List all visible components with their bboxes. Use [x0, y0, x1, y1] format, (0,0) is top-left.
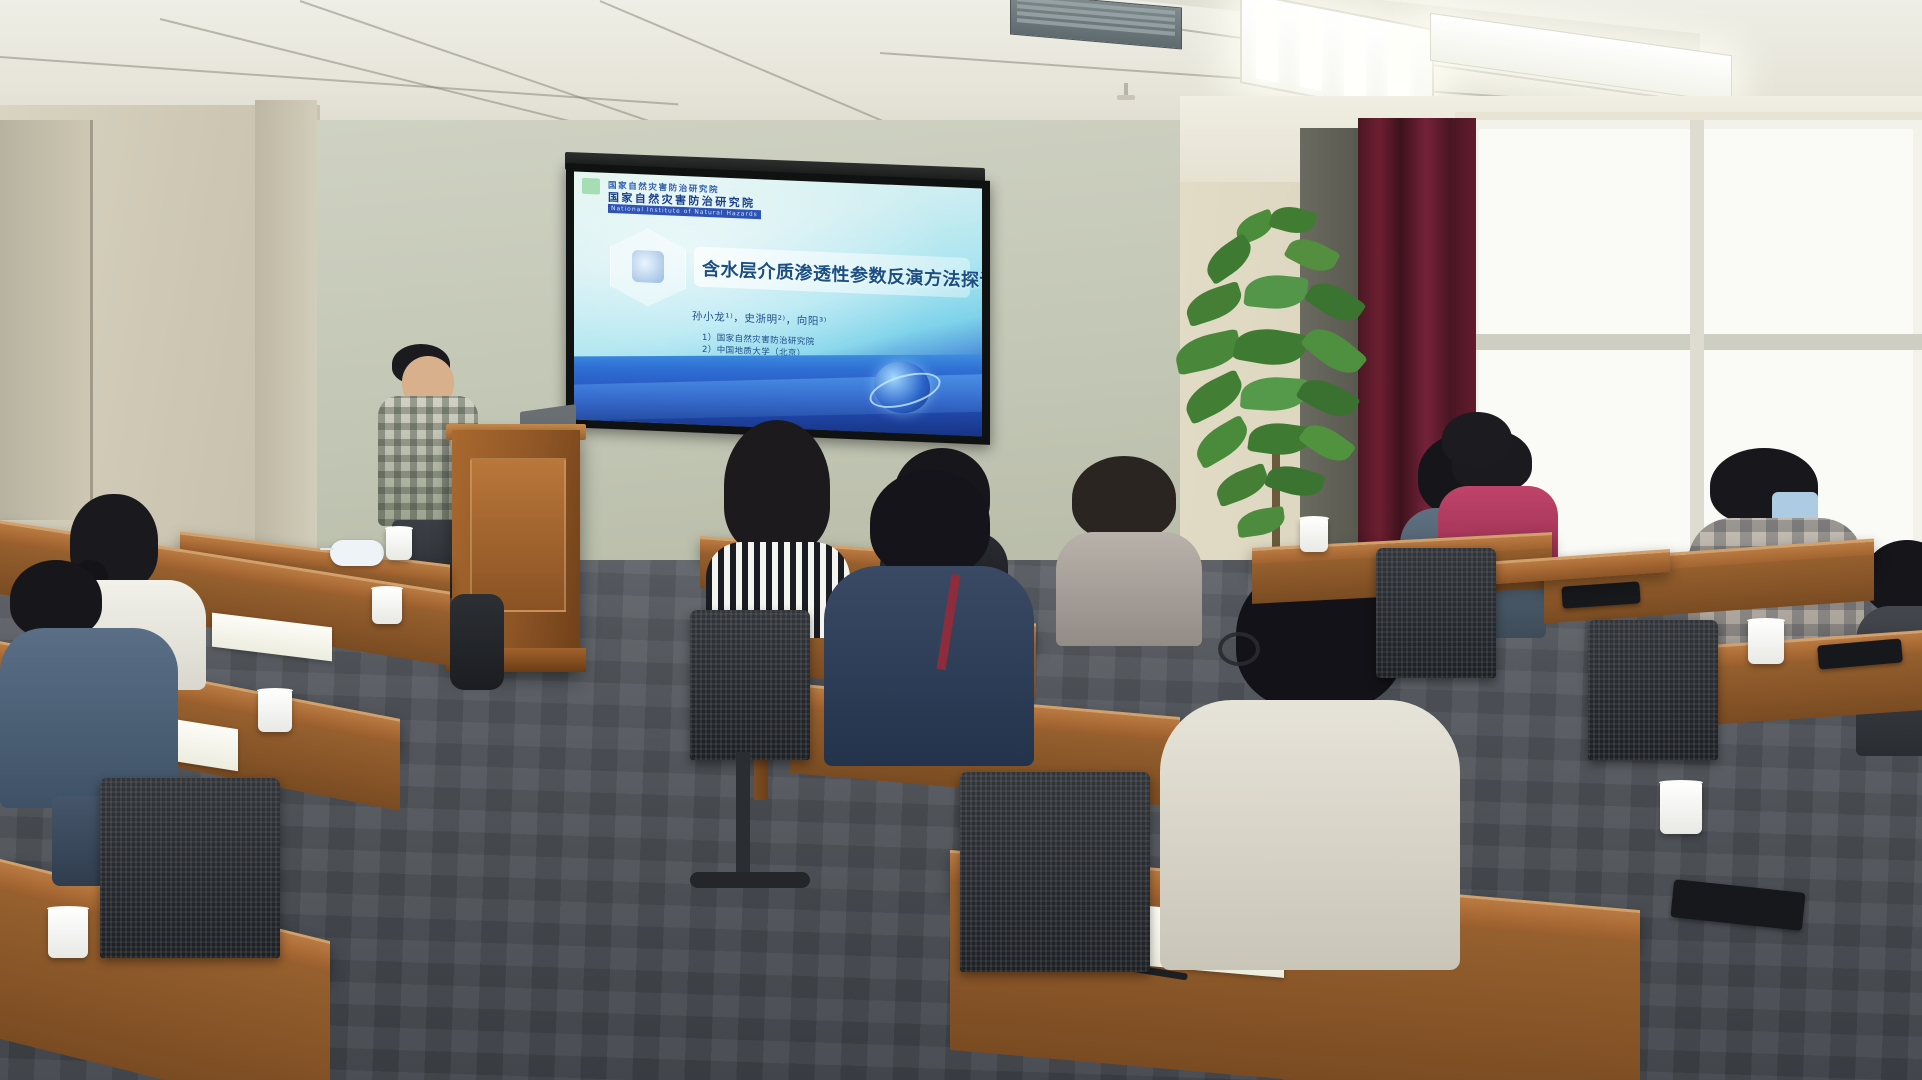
- slide-hexagon-emblem-icon: [632, 250, 664, 283]
- hair: [724, 420, 830, 552]
- chair-mesh: [100, 778, 280, 958]
- chair-mesh: [1376, 548, 1496, 678]
- hair: [10, 560, 102, 638]
- chair-mesh: [960, 772, 1150, 972]
- paper-cup[interactable]: [48, 908, 88, 958]
- tshirt: [1160, 700, 1460, 970]
- potted-plant: [1175, 205, 1390, 575]
- door[interactable]: [0, 120, 93, 520]
- glasses-icon: [1218, 632, 1260, 666]
- face-mask[interactable]: [330, 540, 384, 566]
- chair-leg: [736, 752, 750, 882]
- hair: [870, 470, 990, 576]
- hair: [1072, 456, 1176, 540]
- paper-cup[interactable]: [372, 588, 402, 624]
- sprinkler-icon: [1124, 83, 1128, 99]
- slide-logo-icon: [582, 178, 600, 195]
- paper-cup[interactable]: [1748, 620, 1784, 664]
- audience-member: [824, 470, 1034, 770]
- chair-base: [690, 872, 810, 888]
- podium-front-panel: [470, 458, 566, 612]
- chair-mesh: [690, 610, 810, 760]
- hair: [1442, 412, 1512, 466]
- polo-shirt: [824, 566, 1034, 766]
- presentation-slide: 国家自然灾害防治研究院 国家自然灾害防治研究院 National Institu…: [574, 171, 982, 436]
- chair-mesh: [1588, 620, 1718, 760]
- paper-cup[interactable]: [258, 690, 292, 732]
- backpack[interactable]: [450, 594, 504, 690]
- paper-cup[interactable]: [386, 528, 412, 560]
- paper-cup[interactable]: [1300, 518, 1328, 552]
- audience-member: [1436, 426, 1536, 546]
- conference-room-photo: 国家自然灾害防治研究院 国家自然灾害防治研究院 National Institu…: [0, 0, 1922, 1080]
- paper-cup[interactable]: [1660, 782, 1702, 834]
